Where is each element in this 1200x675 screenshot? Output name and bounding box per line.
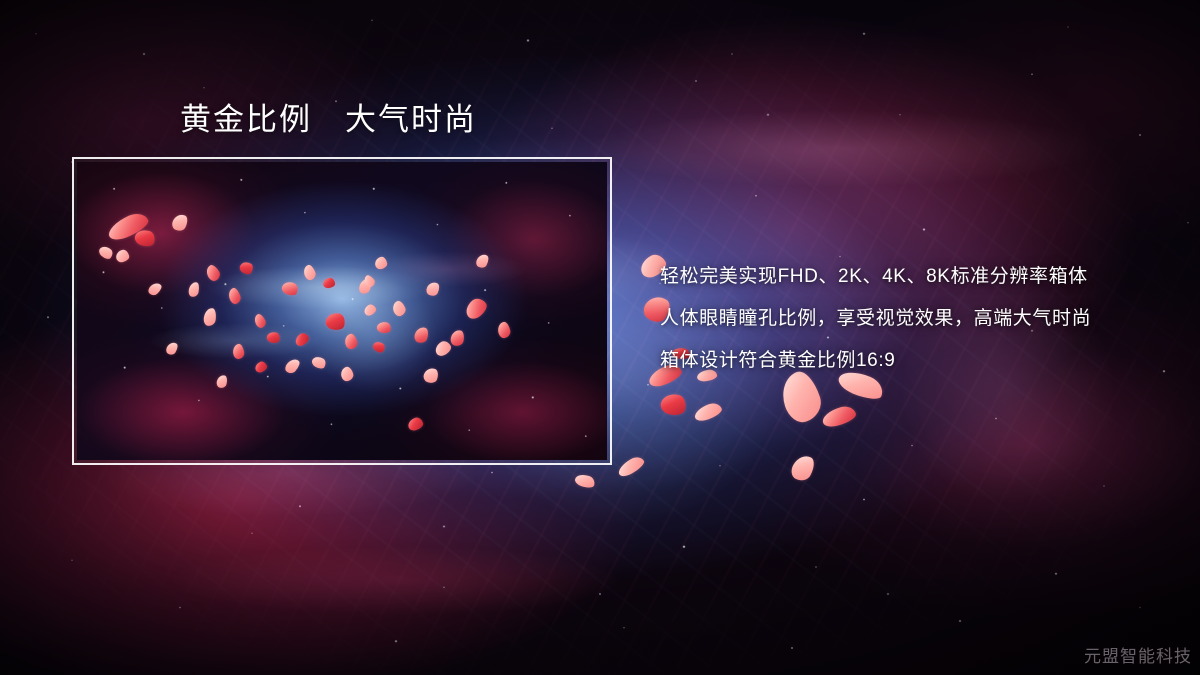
body-text-block: 轻松完美实现FHD、2K、4K、8K标准分辨率箱体 人体眼睛瞳孔比例，享受视觉效… bbox=[660, 256, 1170, 382]
body-line-1: 轻松完美实现FHD、2K、4K、8K标准分辨率箱体 bbox=[660, 256, 1170, 298]
body-line-2: 人体眼睛瞳孔比例，享受视觉效果，高端大气时尚 bbox=[660, 298, 1170, 340]
slide-canvas: 黄金比例 大气时尚 bbox=[0, 0, 1200, 675]
panel-starfield bbox=[77, 162, 607, 460]
watermark: 元盟智能科技 bbox=[1084, 642, 1192, 667]
image-frame bbox=[72, 157, 612, 465]
page-title: 黄金比例 大气时尚 bbox=[180, 100, 477, 140]
image-panel-content bbox=[77, 162, 607, 460]
body-line-3: 箱体设计符合黄金比例16:9 bbox=[660, 340, 1170, 382]
